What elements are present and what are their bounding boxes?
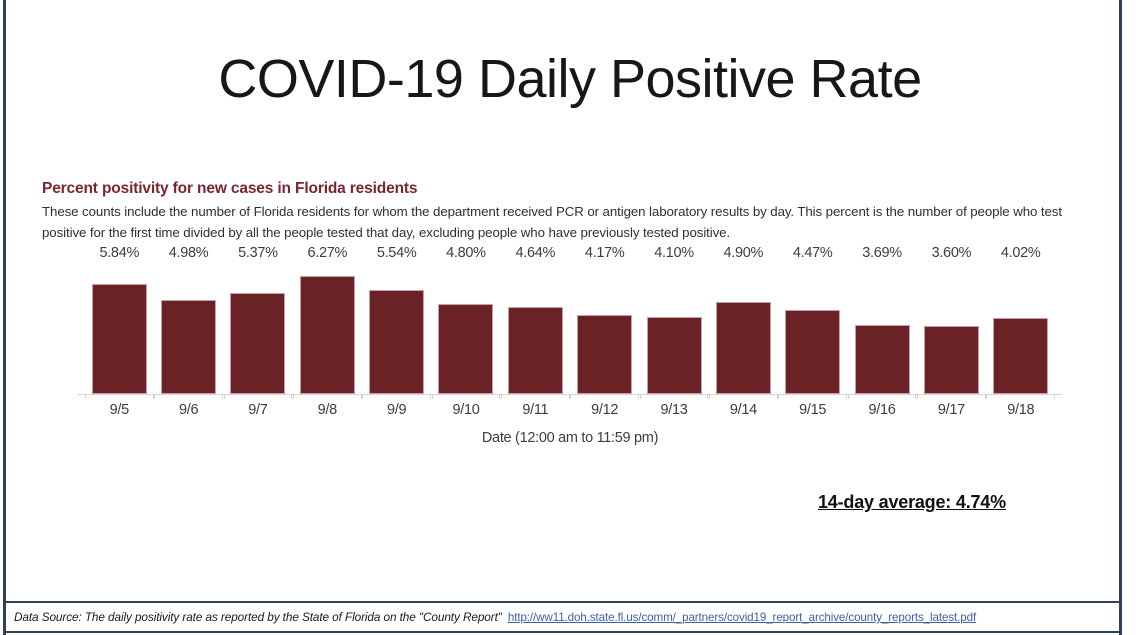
- chart-x-tick-label: 9/16: [848, 402, 917, 418]
- chart-x-tick-label: 9/11: [501, 402, 570, 418]
- fourteen-day-average-note: 14-day average: 4.74%: [818, 492, 1006, 513]
- page-title: COVID-19 Daily Positive Rate: [0, 48, 1140, 110]
- chart-description: These counts include the number of Flori…: [42, 202, 1080, 243]
- chart-x-tick-label: 9/18: [986, 402, 1055, 418]
- chart-bar-slot: 4.80%: [432, 264, 501, 394]
- chart-bar-value-label: 4.10%: [654, 245, 694, 261]
- bar-chart: 5.84%4.98%5.37%6.27%5.54%4.80%4.64%4.17%…: [0, 264, 1140, 464]
- chart-x-tick: [432, 394, 501, 399]
- chart-bar[interactable]: 4.80%: [438, 304, 493, 394]
- footer-source-link[interactable]: http://ww11.doh.state.fl.us/comm/_partne…: [508, 611, 976, 624]
- chart-bar-slot: 4.17%: [570, 264, 639, 394]
- chart-bar[interactable]: 3.69%: [855, 325, 910, 395]
- chart-bar-slot: 4.64%: [501, 264, 570, 394]
- chart-x-tick-label: 9/7: [224, 402, 293, 418]
- footer-divider-top: [6, 601, 1120, 603]
- chart-bar[interactable]: 6.27%: [300, 276, 355, 394]
- chart-x-tick: [917, 394, 986, 399]
- chart-bar-slot: 4.98%: [154, 264, 223, 394]
- slide-canvas: COVID-19 Daily Positive Rate Percent pos…: [0, 0, 1140, 635]
- chart-x-tick: [709, 394, 778, 399]
- chart-x-tick-label: 9/13: [640, 402, 709, 418]
- chart-x-tick-label: 9/12: [570, 402, 639, 418]
- chart-x-axis-title: Date (12:00 am to 11:59 pm): [78, 430, 1062, 446]
- chart-bar-value-label: 5.84%: [99, 245, 139, 261]
- chart-bar-slot: 5.84%: [85, 264, 154, 394]
- chart-bar[interactable]: 4.47%: [785, 310, 840, 394]
- chart-bar[interactable]: 5.84%: [92, 284, 147, 394]
- chart-x-tick-label: 9/5: [85, 402, 154, 418]
- chart-bar[interactable]: 4.90%: [716, 302, 771, 394]
- chart-x-tick: [224, 394, 293, 399]
- chart-bar-value-label: 4.90%: [724, 245, 764, 261]
- chart-bar-value-label: 4.17%: [585, 245, 625, 261]
- chart-bar[interactable]: 4.02%: [993, 318, 1048, 394]
- chart-x-tick-label: 9/9: [362, 402, 431, 418]
- chart-x-tick: [778, 394, 847, 399]
- chart-bar-value-label: 6.27%: [307, 245, 347, 261]
- chart-x-tick: [362, 394, 431, 399]
- chart-bar-value-label: 5.54%: [377, 245, 417, 261]
- chart-bar-slot: 6.27%: [293, 264, 362, 394]
- chart-x-tick: [570, 394, 639, 399]
- chart-bar-value-label: 4.80%: [446, 245, 486, 261]
- chart-bar-value-label: 5.37%: [238, 245, 278, 261]
- chart-x-tick: [501, 394, 570, 399]
- chart-x-tick-label: 9/10: [432, 402, 501, 418]
- chart-bar-value-label: 3.60%: [932, 245, 972, 261]
- chart-bar-slot: 5.37%: [224, 264, 293, 394]
- chart-bar-slot: 4.90%: [709, 264, 778, 394]
- chart-panel: Percent positivity for new cases in Flor…: [42, 180, 1082, 243]
- chart-bar-slot: 5.54%: [362, 264, 431, 394]
- chart-x-tick: [293, 394, 362, 399]
- chart-x-tick: [85, 394, 154, 399]
- chart-x-axis-ticks: [78, 394, 1062, 399]
- chart-bar[interactable]: 4.10%: [647, 317, 702, 394]
- chart-bar[interactable]: 4.64%: [508, 307, 563, 394]
- chart-bar-slot: 3.69%: [848, 264, 917, 394]
- chart-x-tick: [154, 394, 223, 399]
- chart-x-tick: [640, 394, 709, 399]
- chart-heading: Percent positivity for new cases in Flor…: [42, 180, 1082, 198]
- chart-bar-slot: 4.10%: [640, 264, 709, 394]
- footer-divider-bottom: [6, 631, 1120, 633]
- footer-data-source: Data Source: The daily positivity rate a…: [14, 610, 1124, 624]
- chart-bar-value-label: 4.64%: [516, 245, 556, 261]
- chart-bar-slot: 4.47%: [778, 264, 847, 394]
- chart-x-tick-label: 9/8: [293, 402, 362, 418]
- chart-bar[interactable]: 4.98%: [161, 300, 216, 394]
- chart-bar-value-label: 3.69%: [862, 245, 902, 261]
- chart-bar[interactable]: 5.54%: [369, 290, 424, 394]
- chart-bar[interactable]: 3.60%: [924, 326, 979, 394]
- chart-bar[interactable]: 5.37%: [230, 293, 285, 394]
- chart-x-tick-label: 9/14: [709, 402, 778, 418]
- chart-x-tick: [986, 394, 1055, 399]
- chart-x-tick: [848, 394, 917, 399]
- chart-bar[interactable]: 4.17%: [577, 315, 632, 394]
- chart-plot-area: 5.84%4.98%5.37%6.27%5.54%4.80%4.64%4.17%…: [78, 264, 1062, 394]
- chart-bar-slot: 3.60%: [917, 264, 986, 394]
- footer-source-text: Data Source: The daily positivity rate a…: [14, 610, 502, 624]
- chart-bar-value-label: 4.98%: [169, 245, 209, 261]
- chart-x-tick-label: 9/6: [154, 402, 223, 418]
- chart-x-tick-label: 9/15: [778, 402, 847, 418]
- chart-x-axis-labels: 9/59/69/79/89/99/109/119/129/139/149/159…: [78, 402, 1062, 418]
- chart-bar-value-label: 4.47%: [793, 245, 833, 261]
- chart-bar-slot: 4.02%: [986, 264, 1055, 394]
- chart-x-tick-label: 9/17: [917, 402, 986, 418]
- chart-bar-value-label: 4.02%: [1001, 245, 1041, 261]
